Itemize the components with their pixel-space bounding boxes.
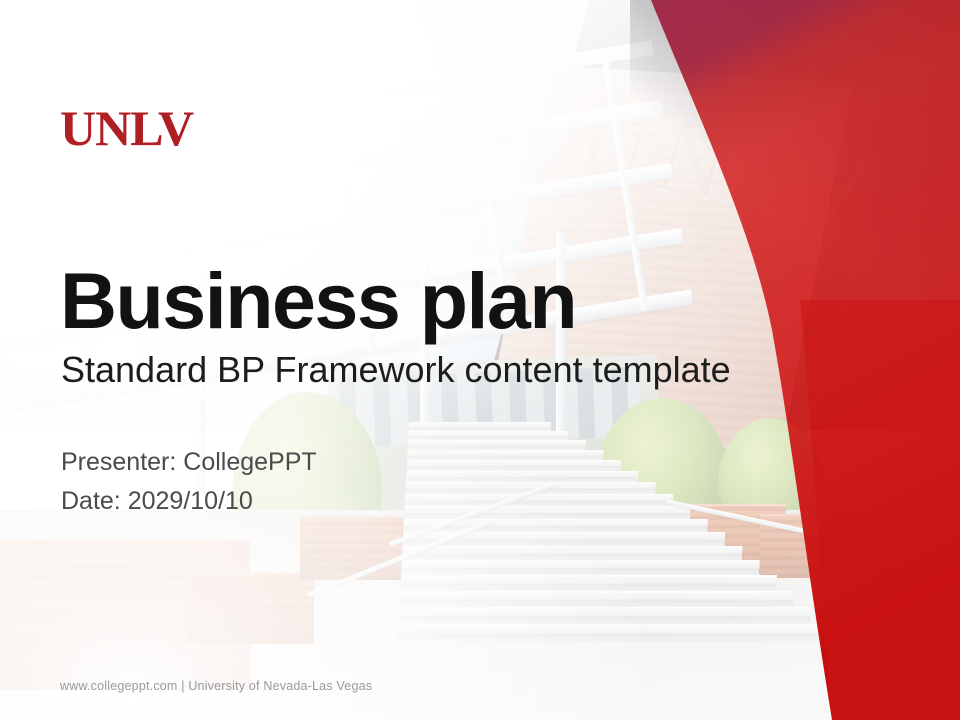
footer-credit: www.collegeppt.com | University of Nevad… xyxy=(60,679,372,693)
page-title: Business plan xyxy=(60,261,576,340)
date-line: Date: 2029/10/10 xyxy=(61,482,317,521)
page-subtitle: Standard BP Framework content template xyxy=(61,352,731,388)
unlv-logo: UNLV xyxy=(60,103,193,153)
presentation-meta: Presenter: CollegePPT Date: 2029/10/10 xyxy=(61,443,317,521)
photo-dark-corner-overlay xyxy=(630,0,960,300)
presentation-title-slide: UNLV xyxy=(0,0,960,720)
presenter-line: Presenter: CollegePPT xyxy=(61,443,317,482)
